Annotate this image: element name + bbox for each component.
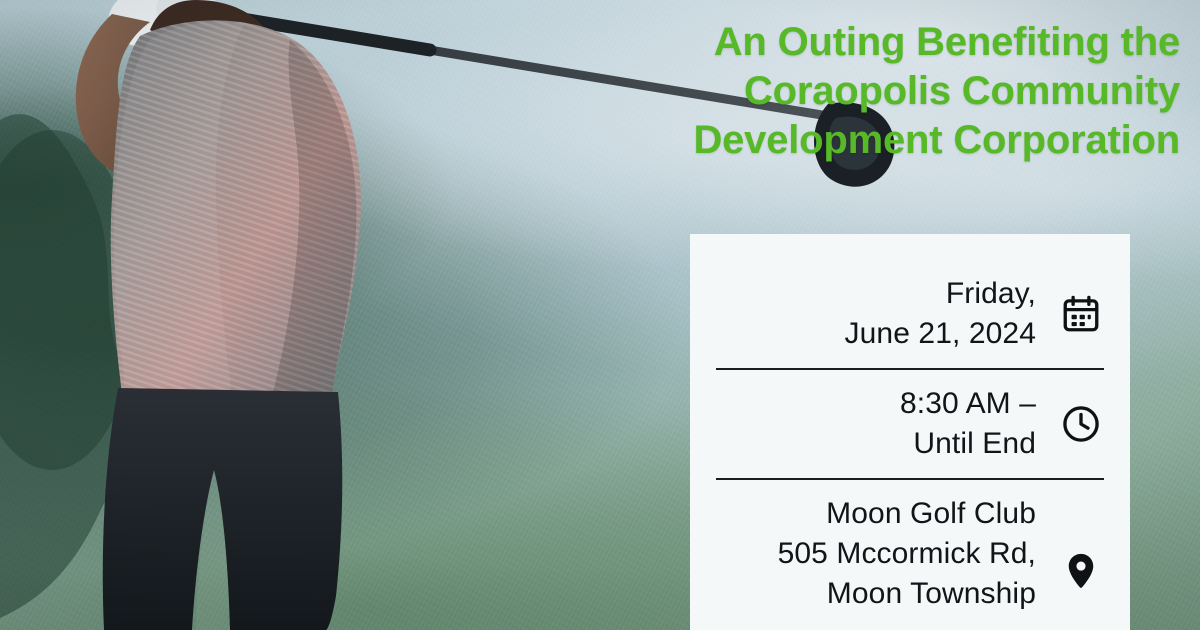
- location-pin-icon: [1058, 548, 1104, 594]
- venue-line-3: Moon Township: [716, 574, 1036, 614]
- event-poster: An Outing Benefiting the Coraopolis Comm…: [0, 0, 1200, 630]
- detail-row-date: Friday, June 21, 2024: [716, 260, 1104, 368]
- clock-icon: [1058, 401, 1104, 447]
- detail-row-time: 8:30 AM – Until End: [716, 370, 1104, 478]
- calendar-icon: [1058, 291, 1104, 337]
- venue-line-1: Moon Golf Club: [716, 494, 1036, 534]
- venue-text: Moon Golf Club 505 Mccormick Rd, Moon To…: [716, 494, 1036, 614]
- event-details-card: Friday, June 21, 2024 8:30 A: [690, 234, 1130, 630]
- date-line-2: June 21, 2024: [716, 314, 1036, 354]
- detail-row-venue: Moon Golf Club 505 Mccormick Rd, Moon To…: [716, 480, 1104, 614]
- headline-line-3: Development Corporation: [520, 116, 1180, 165]
- headline-line-1: An Outing Benefiting the: [520, 18, 1180, 67]
- time-line-1: 8:30 AM –: [716, 384, 1036, 424]
- date-line-1: Friday,: [716, 274, 1036, 314]
- date-text: Friday, June 21, 2024: [716, 274, 1036, 354]
- time-line-2: Until End: [716, 424, 1036, 464]
- time-text: 8:30 AM – Until End: [716, 384, 1036, 464]
- venue-line-2: 505 Mccormick Rd,: [716, 534, 1036, 574]
- page-title: An Outing Benefiting the Coraopolis Comm…: [520, 18, 1180, 164]
- headline-line-2: Coraopolis Community: [520, 67, 1180, 116]
